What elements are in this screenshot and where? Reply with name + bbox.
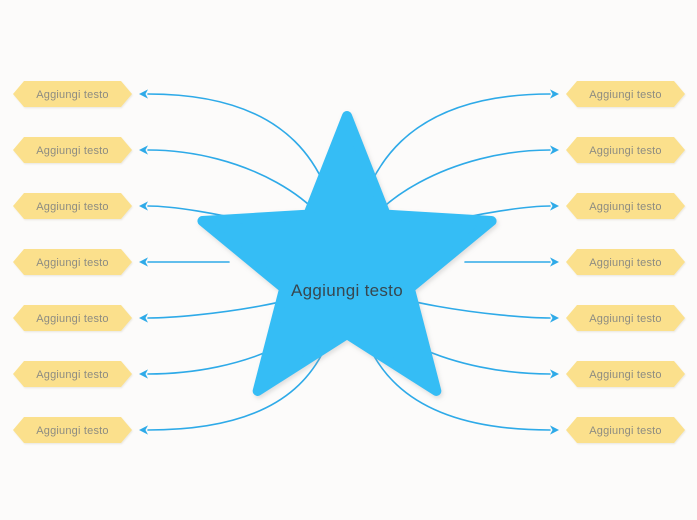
branch-node[interactable]: Aggiungi testo bbox=[566, 417, 685, 443]
branch-node-label: Aggiungi testo bbox=[36, 89, 109, 101]
branch-node[interactable]: Aggiungi testo bbox=[566, 81, 685, 107]
branch-node-label: Aggiungi testo bbox=[36, 257, 109, 269]
branch-node[interactable]: Aggiungi testo bbox=[566, 305, 685, 331]
branch-node-label: Aggiungi testo bbox=[36, 313, 109, 325]
center-node-label: Aggiungi testo bbox=[291, 281, 403, 300]
branch-node-label: Aggiungi testo bbox=[589, 201, 662, 213]
arrow-left-icon bbox=[139, 145, 148, 154]
branch-node-label: Aggiungi testo bbox=[589, 369, 662, 381]
mindmap-diagram: Aggiungi testo Aggiungi testoAggiungi te… bbox=[0, 0, 697, 520]
branch-node[interactable]: Aggiungi testo bbox=[13, 193, 132, 219]
arrow-right-icon bbox=[550, 201, 559, 210]
branch-node[interactable]: Aggiungi testo bbox=[13, 81, 132, 107]
branch-node-label: Aggiungi testo bbox=[36, 145, 109, 157]
branch-node-label: Aggiungi testo bbox=[589, 145, 662, 157]
branch-node[interactable]: Aggiungi testo bbox=[13, 417, 132, 443]
branch-node-label: Aggiungi testo bbox=[36, 201, 109, 213]
branch-node-label: Aggiungi testo bbox=[589, 257, 662, 269]
arrow-left-icon bbox=[139, 369, 148, 378]
arrow-left-icon bbox=[139, 425, 148, 434]
branch-node-label: Aggiungi testo bbox=[36, 369, 109, 381]
branch-node[interactable]: Aggiungi testo bbox=[13, 249, 132, 275]
branch-node[interactable]: Aggiungi testo bbox=[13, 305, 132, 331]
branch-node[interactable]: Aggiungi testo bbox=[566, 249, 685, 275]
star-shape[interactable] bbox=[202, 116, 491, 391]
arrow-right-icon bbox=[550, 369, 559, 378]
arrow-right-icon bbox=[550, 257, 559, 266]
branch-node[interactable]: Aggiungi testo bbox=[566, 137, 685, 163]
branch-node-label: Aggiungi testo bbox=[36, 425, 109, 437]
arrow-left-icon bbox=[139, 201, 148, 210]
arrow-left-icon bbox=[139, 89, 148, 98]
branch-node[interactable]: Aggiungi testo bbox=[13, 361, 132, 387]
left-branch-group: Aggiungi testoAggiungi testoAggiungi tes… bbox=[13, 81, 132, 443]
arrow-right-icon bbox=[550, 425, 559, 434]
branch-node-label: Aggiungi testo bbox=[589, 89, 662, 101]
arrow-left-icon bbox=[139, 313, 148, 322]
arrow-left-icon bbox=[139, 257, 148, 266]
arrow-right-icon bbox=[550, 145, 559, 154]
branch-node[interactable]: Aggiungi testo bbox=[566, 193, 685, 219]
arrow-right-icon bbox=[550, 89, 559, 98]
branch-node[interactable]: Aggiungi testo bbox=[566, 361, 685, 387]
branch-node-label: Aggiungi testo bbox=[589, 313, 662, 325]
mindmap-canvas: Aggiungi testo Aggiungi testoAggiungi te… bbox=[0, 0, 697, 520]
branch-node-label: Aggiungi testo bbox=[589, 425, 662, 437]
center-node-star[interactable]: Aggiungi testo bbox=[202, 116, 491, 391]
right-branch-group: Aggiungi testoAggiungi testoAggiungi tes… bbox=[566, 81, 685, 443]
arrow-right-icon bbox=[550, 313, 559, 322]
branch-node[interactable]: Aggiungi testo bbox=[13, 137, 132, 163]
